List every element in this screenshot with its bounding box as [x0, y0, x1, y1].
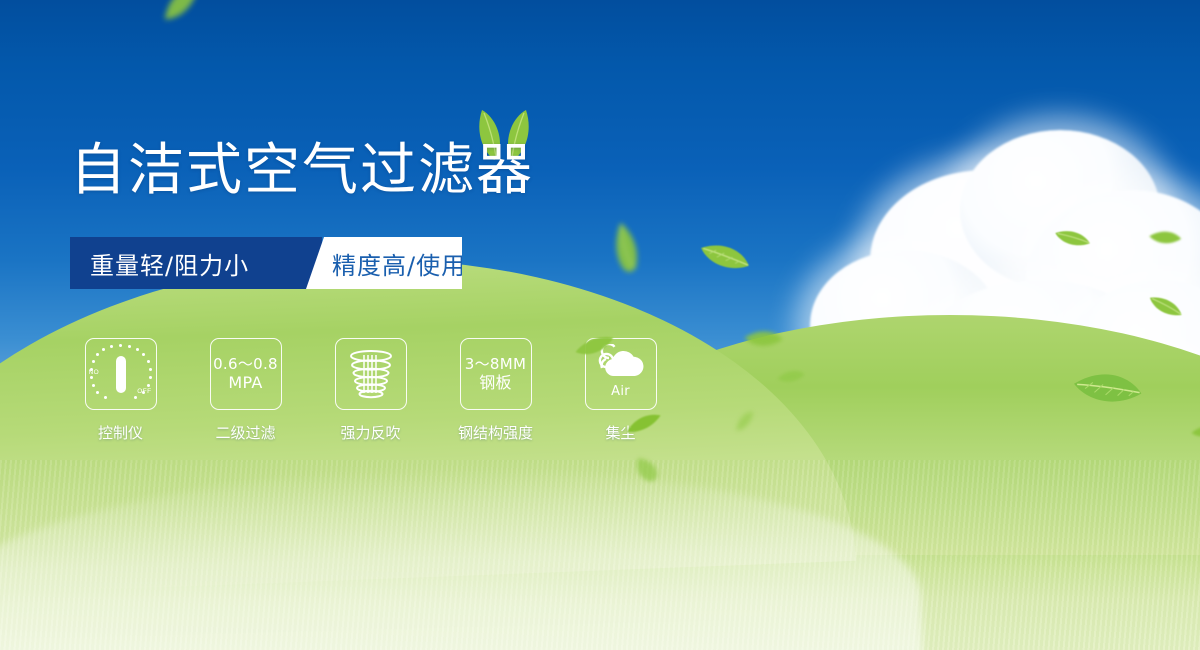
- dial-off-label: OFF: [137, 388, 151, 395]
- feature-text-line2: Air: [611, 384, 630, 400]
- feature-label: 控制仪: [98, 422, 143, 443]
- feature-item-two-stage-filter[interactable]: 0.6〜0.8 MPA 二级过滤: [203, 338, 288, 443]
- control-dial-icon: NO OFF: [90, 343, 152, 405]
- steel-thickness-text-icon: 3〜8MM 钢板: [465, 355, 526, 393]
- meadow-foreground: [0, 460, 1200, 650]
- page-title: 自洁式空气过滤器: [70, 143, 534, 199]
- feature-item-controller[interactable]: NO OFF 控制仪: [78, 338, 163, 443]
- feature-text-line2: MPA: [213, 373, 278, 393]
- feature-text-line2: 钢板: [465, 373, 526, 393]
- pressure-text-icon: 0.6〜0.8 MPA: [213, 355, 278, 393]
- feature-icon-box: [335, 338, 407, 410]
- feature-list: NO OFF 控制仪 0.6〜0.8 MPA 二级过滤: [78, 338, 663, 443]
- feature-icon-box: NO OFF: [85, 338, 157, 410]
- product-hero-banner: 自洁式空气过滤器 重量轻/阻力小 精度高/使用方便: [0, 0, 1200, 650]
- filter-stack-icon: [343, 346, 399, 402]
- feature-text-line1: 0.6〜0.8: [213, 355, 278, 373]
- feature-item-backflush[interactable]: 强力反吹: [328, 338, 413, 443]
- feature-label: 强力反吹: [340, 422, 400, 443]
- feature-icon-box: 0.6〜0.8 MPA: [210, 338, 282, 410]
- subtitle-right-block: 精度高/使用方便: [306, 237, 462, 289]
- feature-label: 钢结构强度: [458, 422, 533, 443]
- feature-text-line1: 3〜8MM: [465, 355, 526, 373]
- feature-item-steel-strength[interactable]: 3〜8MM 钢板 钢结构强度: [453, 338, 538, 443]
- air-label-wrap: Air: [611, 384, 630, 400]
- feature-label: 二级过滤: [215, 422, 275, 443]
- subtitle-left-block: 重量轻/阻力小: [70, 237, 322, 289]
- subtitle-bar: 重量轻/阻力小 精度高/使用方便: [70, 237, 462, 289]
- dial-on-label: NO: [89, 369, 100, 376]
- feature-icon-box: 3〜8MM 钢板: [460, 338, 532, 410]
- dial-pointer: [116, 356, 126, 393]
- subtitle-left-text: 重量轻/阻力小: [90, 246, 249, 281]
